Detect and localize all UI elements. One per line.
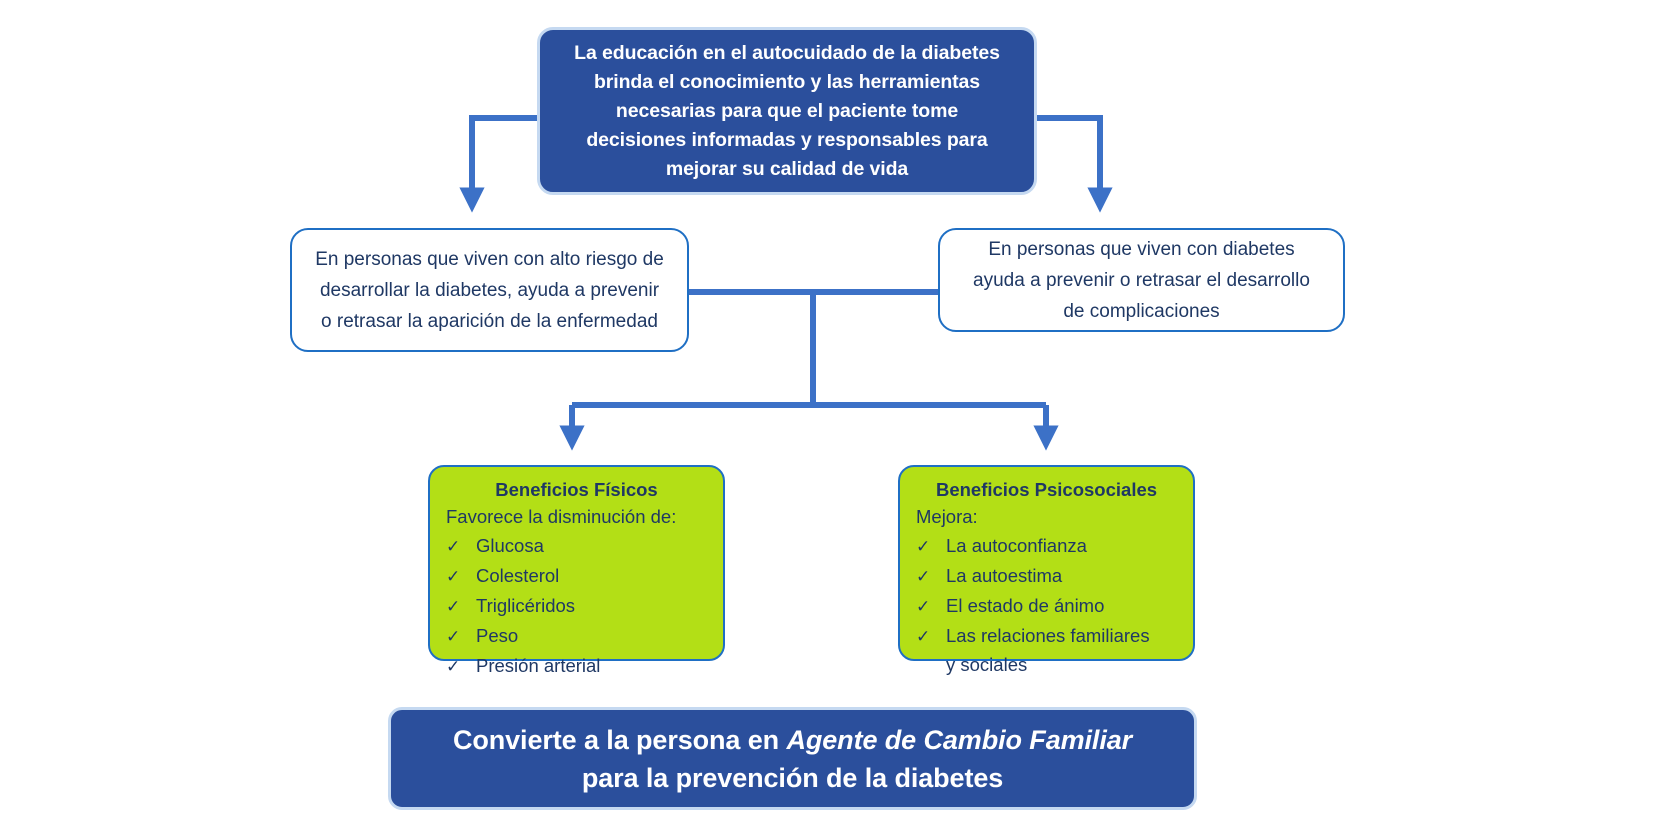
branch-right-line-1: En personas que viven con diabetes [956, 234, 1327, 265]
list-item-label: El estado de ánimo [946, 591, 1177, 620]
list-item-label: Triglicéridos [476, 591, 707, 620]
list-item-label: Colesterol [476, 561, 707, 590]
list-item-label: Peso [476, 621, 707, 650]
list-item: ✓ La autoconfianza [916, 531, 1177, 561]
root-line-1: La educación en el autocuidado de la dia… [554, 39, 1020, 68]
list-item: ✓ Presión arterial [446, 651, 707, 681]
root-statement-box: La educación en el autocuidado de la dia… [537, 27, 1037, 195]
list-item: ✓ El estado de ánimo [916, 591, 1177, 621]
check-icon: ✓ [916, 622, 946, 651]
benefits-physical-box: Beneficios Físicos Favorece la disminuci… [428, 465, 725, 661]
list-item-label: Las relaciones familiares y sociales [946, 621, 1177, 679]
check-icon: ✓ [446, 592, 476, 621]
conclusion-banner: Convierte a la persona en Agente de Camb… [388, 707, 1197, 810]
check-icon: ✓ [446, 622, 476, 651]
diagram-canvas: La educación en el autocuidado de la dia… [0, 0, 1653, 834]
list-item: ✓ Las relaciones familiares y sociales [916, 621, 1177, 679]
list-item-label: Presión arterial [476, 651, 707, 680]
conclusion-line-2: para la prevención de la diabetes [411, 759, 1174, 797]
root-line-5: mejorar su calidad de vida [554, 155, 1020, 184]
list-item: ✓ La autoestima [916, 561, 1177, 591]
list-item-label-part1: Las relaciones familiares [946, 625, 1150, 646]
root-line-3: necesarias para que el paciente tome [554, 97, 1020, 126]
benefits-psychosocial-box: Beneficios Psicosociales Mejora: ✓ La au… [898, 465, 1195, 661]
root-line-4: decisiones informadas y responsables par… [554, 126, 1020, 155]
branch-left-line-3: o retrasar la aparición de la enfermedad [308, 306, 671, 337]
check-icon: ✓ [916, 592, 946, 621]
branch-left-line-2: desarrollar la diabetes, ayuda a preveni… [308, 275, 671, 306]
list-item: ✓ Colesterol [446, 561, 707, 591]
check-icon: ✓ [446, 562, 476, 591]
list-item: ✓ Peso [446, 621, 707, 651]
list-item-label: La autoestima [946, 561, 1177, 590]
branch-right-line-3: de complicaciones [956, 296, 1327, 327]
check-icon: ✓ [916, 532, 946, 561]
benefits-physical-list: ✓ Glucosa ✓ Colesterol ✓ Triglicéridos ✓… [446, 531, 707, 681]
check-icon: ✓ [446, 532, 476, 561]
list-item-label-part2: y sociales [946, 650, 1177, 679]
list-item-label: Glucosa [476, 531, 707, 560]
list-item: ✓ Triglicéridos [446, 591, 707, 621]
root-line-2: brinda el conocimiento y las herramienta… [554, 68, 1020, 97]
benefits-psychosocial-lead: Mejora: [916, 503, 1177, 530]
conclusion-line-1: Convierte a la persona en Agente de Camb… [411, 721, 1174, 759]
conclusion-line-1-prefix: Convierte a la persona en [453, 725, 787, 755]
connector-root-to-left [472, 118, 537, 200]
benefits-physical-lead: Favorece la disminución de: [446, 503, 707, 530]
list-item-label: La autoconfianza [946, 531, 1177, 560]
branch-right-line-2: ayuda a prevenir o retrasar el desarroll… [956, 265, 1327, 296]
connector-root-to-right [1037, 118, 1100, 200]
branch-left-line-1: En personas que viven con alto riesgo de [308, 244, 671, 275]
check-icon: ✓ [916, 562, 946, 591]
check-icon: ✓ [446, 652, 476, 681]
branch-box-high-risk: En personas que viven con alto riesgo de… [290, 228, 689, 352]
list-item: ✓ Glucosa [446, 531, 707, 561]
conclusion-emphasis: Agente de Cambio Familiar [786, 725, 1132, 755]
benefits-physical-title: Beneficios Físicos [446, 477, 707, 502]
branch-box-with-diabetes: En personas que viven con diabetes ayuda… [938, 228, 1345, 332]
benefits-psychosocial-list: ✓ La autoconfianza ✓ La autoestima ✓ El … [916, 531, 1177, 679]
benefits-psychosocial-title: Beneficios Psicosociales [916, 477, 1177, 502]
